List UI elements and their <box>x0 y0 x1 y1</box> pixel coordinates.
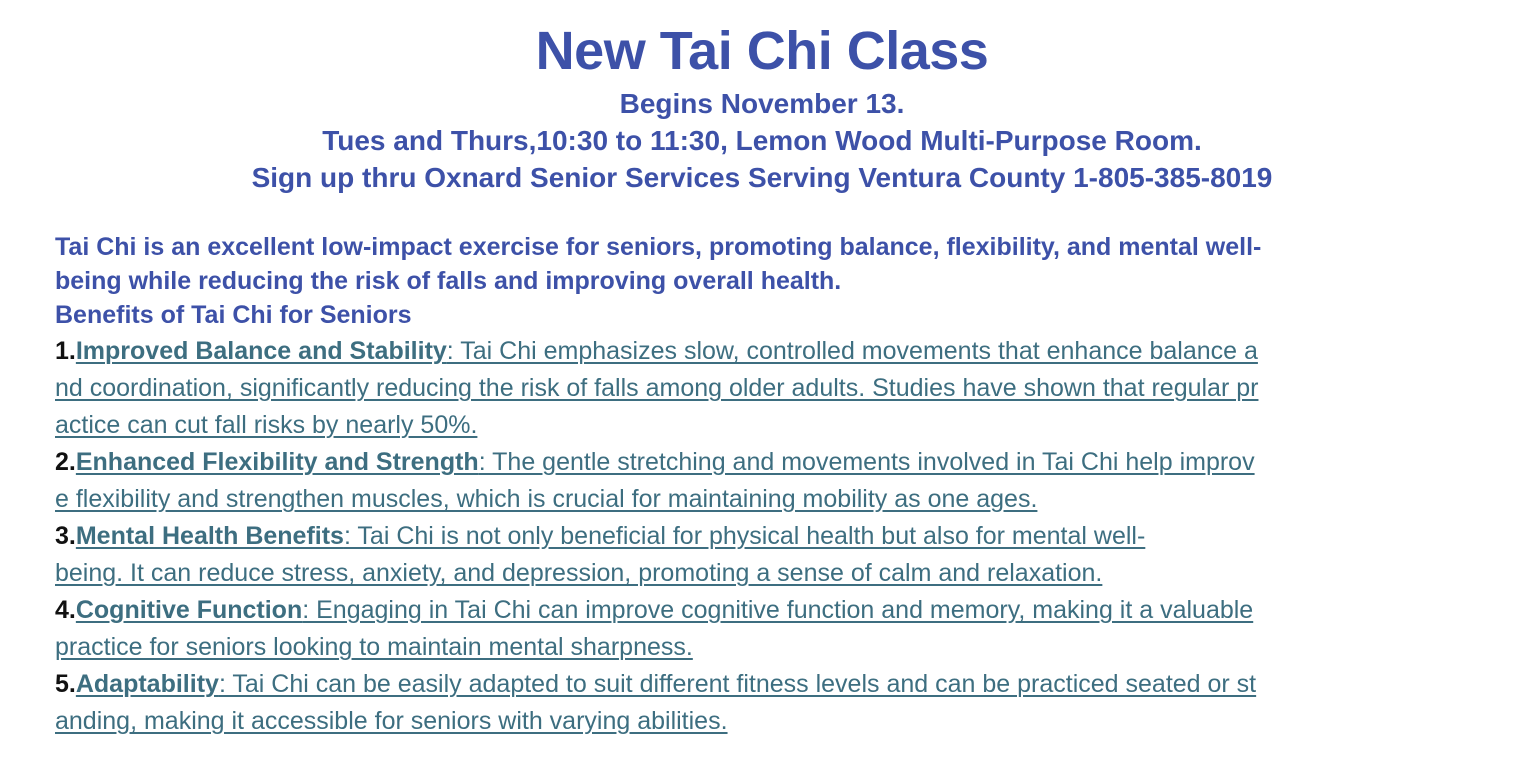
benefit-first-line: 2.Enhanced Flexibility and Strength: The… <box>55 444 1506 481</box>
flyer-header: New Tai Chi Class Begins November 13. Tu… <box>0 0 1524 196</box>
list-item: 2.Enhanced Flexibility and Strength: The… <box>55 444 1506 518</box>
benefit-label: Mental Health Benefits <box>76 522 344 550</box>
list-item: 1.Improved Balance and Stability: Tai Ch… <box>55 333 1506 444</box>
benefit-body-line-1: : Engaging in Tai Chi can improve cognit… <box>302 596 1253 624</box>
benefit-body-line-2: e flexibility and strengthen muscles, wh… <box>55 481 1506 518</box>
flyer-body: Tai Chi is an excellent low-impact exerc… <box>0 230 1524 740</box>
list-item: 4.Cognitive Function: Engaging in Tai Ch… <box>55 592 1506 666</box>
benefit-body-line-2: nd coordination, significantly reducing … <box>55 370 1506 407</box>
flyer-page: New Tai Chi Class Begins November 13. Tu… <box>0 0 1524 774</box>
benefit-body-line-1: : Tai Chi can be easily adapted to suit … <box>219 670 1256 698</box>
benefit-body-line-3: actice can cut fall risks by nearly 50%. <box>55 407 1506 444</box>
benefit-body-line-2: practice for seniors looking to maintain… <box>55 629 1506 666</box>
benefit-label: Improved Balance and Stability <box>76 337 447 365</box>
benefit-number: 5. <box>55 670 76 698</box>
benefit-label: Enhanced Flexibility and Strength <box>76 448 479 476</box>
list-item: 3.Mental Health Benefits: Tai Chi is not… <box>55 518 1506 592</box>
benefit-number: 1. <box>55 337 76 365</box>
list-item: 5.Adaptability: Tai Chi can be easily ad… <box>55 666 1506 740</box>
benefit-first-line: 3.Mental Health Benefits: Tai Chi is not… <box>55 518 1506 555</box>
benefit-label: Adaptability <box>76 670 219 698</box>
benefit-first-line: 5.Adaptability: Tai Chi can be easily ad… <box>55 666 1506 703</box>
page-title: New Tai Chi Class <box>0 20 1524 82</box>
benefit-body-line-2: being. It can reduce stress, anxiety, an… <box>55 555 1506 592</box>
benefit-body-line-1: : Tai Chi emphasizes slow, controlled mo… <box>447 337 1258 365</box>
benefit-number: 2. <box>55 448 76 476</box>
benefit-first-line: 4.Cognitive Function: Engaging in Tai Ch… <box>55 592 1506 629</box>
header-line-schedule: Tues and Thurs,10:30 to 11:30, Lemon Woo… <box>0 122 1524 159</box>
header-line-signup: Sign up thru Oxnard Senior Services Serv… <box>0 159 1524 196</box>
benefit-first-line: 1.Improved Balance and Stability: Tai Ch… <box>55 333 1506 370</box>
benefit-body-line-1: : The gentle stretching and movements in… <box>479 448 1255 476</box>
intro-paragraph: Tai Chi is an excellent low-impact exerc… <box>55 230 1506 298</box>
intro-line-1: Tai Chi is an excellent low-impact exerc… <box>55 230 1506 264</box>
benefit-number: 4. <box>55 596 76 624</box>
benefit-number: 3. <box>55 522 76 550</box>
benefit-label: Cognitive Function <box>76 596 302 624</box>
benefit-body-line-2: anding, making it accessible for seniors… <box>55 703 1506 740</box>
intro-line-2: being while reducing the risk of falls a… <box>55 264 1506 298</box>
benefits-list: 1.Improved Balance and Stability: Tai Ch… <box>55 333 1506 740</box>
benefit-body-line-1: : Tai Chi is not only beneficial for phy… <box>344 522 1145 550</box>
header-line-begins: Begins November 13. <box>0 85 1524 122</box>
benefits-heading: Benefits of Tai Chi for Seniors <box>55 298 1506 333</box>
